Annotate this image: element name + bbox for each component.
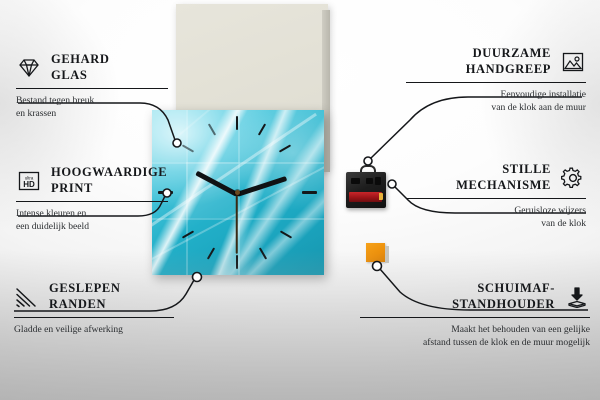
feature-title: SCHUIMAF- STANDHOUDER <box>452 281 555 313</box>
clock-center-hub <box>235 190 240 195</box>
clock-tick-11 <box>208 123 216 135</box>
clock-battery-terminal <box>379 193 383 200</box>
hatched-edge-icon <box>14 286 40 308</box>
feature-geslepen-randen: GESLEPEN RANDEN Gladde en veilige afwerk… <box>14 281 174 336</box>
feature-title: GEHARD GLAS <box>51 52 109 84</box>
feature-description: Intense kleuren en een duidelijk beeld <box>16 207 168 233</box>
feature-title-line1: HOOGWAARDIGE <box>51 165 167 181</box>
feature-description: Geruisloze wijzers van de klok <box>406 204 586 230</box>
svg-text:HD: HD <box>23 180 35 189</box>
feature-desc-line1: Bestand tegen breuk <box>16 94 168 107</box>
feature-desc-line2: en krassen <box>16 107 168 120</box>
feature-title-line2: MECHANISME <box>456 178 551 194</box>
feature-stille-mechanisme: STILLE MECHANISME Geruisloze wijzers van… <box>406 162 586 230</box>
clock-tick-4 <box>280 230 292 238</box>
mechanism-slot <box>375 177 381 185</box>
clock-tick-1 <box>258 123 266 135</box>
feature-desc-line2: van de klok <box>406 217 586 230</box>
feature-title-line2: PRINT <box>51 181 167 197</box>
feature-duurzame-handgreep: DUURZAME HANDGREEP Eenvoudige installati… <box>406 46 586 114</box>
glass-seam-horizontal <box>152 218 324 220</box>
feature-title-line1: SCHUIMAF- <box>452 281 555 297</box>
clock-battery <box>349 192 382 202</box>
clock-tick-12 <box>236 116 238 130</box>
feature-title-line2: STANDHOUDER <box>452 297 555 313</box>
press-down-icon <box>564 286 590 308</box>
feature-gehard-glas: GEHARD GLAS Bestand tegen breuk en krass… <box>16 52 168 120</box>
feature-title: GESLEPEN RANDEN <box>49 281 121 313</box>
feature-header: GESLEPEN RANDEN <box>14 281 174 313</box>
feature-description: Gladde en veilige afwerking <box>14 323 174 336</box>
clock-second-hand <box>236 194 238 254</box>
clock-tick-6 <box>236 255 238 269</box>
foam-spacer-pad-side <box>385 246 389 263</box>
feature-divider <box>406 82 586 84</box>
feature-desc-line1: Maakt het behouden van een gelijke <box>360 323 590 336</box>
foam-spacer-pad <box>366 243 385 262</box>
feature-divider <box>16 201 168 203</box>
feature-desc-line1: Gladde en veilige afwerking <box>14 323 174 336</box>
feature-title-line1: GEHARD <box>51 52 109 68</box>
feature-desc-line1: Eenvoudige installatie <box>406 88 586 101</box>
feature-divider <box>360 317 590 319</box>
feature-description: Maakt het behouden van een gelijke afsta… <box>360 323 590 349</box>
feature-description: Eenvoudige installatie van de klok aan d… <box>406 88 586 114</box>
feature-title-line1: STILLE <box>456 162 551 178</box>
diamond-icon <box>16 57 42 79</box>
feature-title-line1: GESLEPEN <box>49 281 121 297</box>
feature-title: STILLE MECHANISME <box>456 162 551 194</box>
clock-hour-hand <box>236 176 287 197</box>
clock-tick-5 <box>259 247 267 259</box>
feature-title: DUURZAME HANDGREEP <box>466 46 551 78</box>
feature-title-line2: RANDEN <box>49 297 121 313</box>
ultra-hd-icon: ultra HD <box>16 170 42 192</box>
glass-wall-clock-face <box>152 110 324 275</box>
clock-tick-3 <box>302 191 317 194</box>
infographic-canvas: GEHARD GLAS Bestand tegen breuk en krass… <box>0 0 600 400</box>
feature-header: GEHARD GLAS <box>16 52 168 84</box>
feature-schuimafstandhouder: SCHUIMAF- STANDHOUDER Maakt het behouden… <box>360 281 590 349</box>
feature-header: ultra HD HOOGWAARDIGE PRINT <box>16 165 168 197</box>
clock-tick-2 <box>279 144 291 152</box>
feature-description: Bestand tegen breuk en krassen <box>16 94 168 120</box>
gear-icon <box>560 167 586 189</box>
mechanism-slot <box>351 178 360 184</box>
feature-header: SCHUIMAF- STANDHOUDER <box>360 281 590 313</box>
feature-desc-line1: Intense kleuren en <box>16 207 168 220</box>
picture-frame-icon <box>560 51 586 73</box>
clock-tick-7 <box>207 247 215 259</box>
wire-endpoint-duurzame-handgreep <box>364 157 372 165</box>
feature-header: STILLE MECHANISME <box>406 162 586 194</box>
wire-endpoint-schuimafstandhouder <box>373 262 382 271</box>
feature-title-line2: GLAS <box>51 68 109 84</box>
wire-endpoint-stille-mechanisme <box>388 180 396 188</box>
feature-title-line1: DUURZAME <box>466 46 551 62</box>
feature-desc-line1: Geruisloze wijzers <box>406 204 586 217</box>
feature-header: DUURZAME HANDGREEP <box>406 46 586 78</box>
feature-title: HOOGWAARDIGE PRINT <box>51 165 167 197</box>
feature-desc-line2: afstand tussen de klok en de muur mogeli… <box>360 336 590 349</box>
feature-divider <box>14 317 174 319</box>
feature-title-line2: HANDGREEP <box>466 62 551 78</box>
feature-desc-line2: van de klok aan de muur <box>406 101 586 114</box>
feature-divider <box>406 198 586 200</box>
feature-desc-line2: een duidelijk beeld <box>16 220 168 233</box>
feature-divider <box>16 88 168 90</box>
mechanism-slot <box>366 178 373 184</box>
feature-hoogwaardige-print: ultra HD HOOGWAARDIGE PRINT Intense kleu… <box>16 165 168 233</box>
